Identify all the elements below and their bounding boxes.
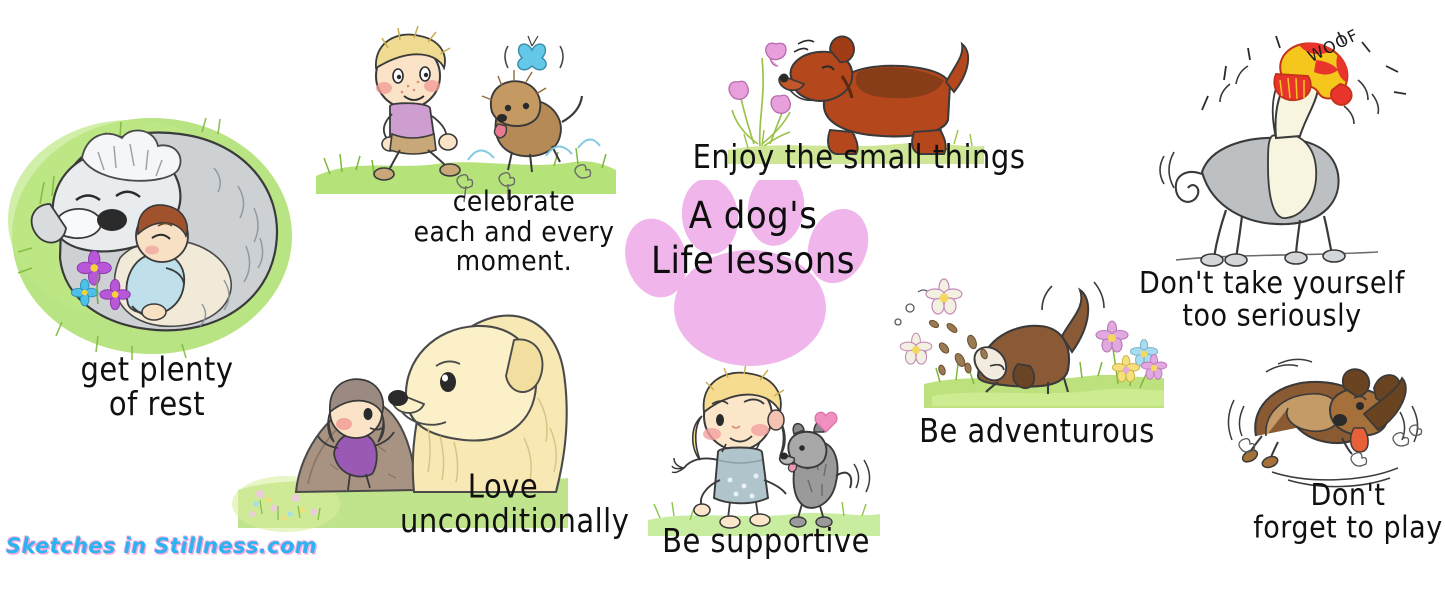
illustration-boy-running-with-puppy	[316, 24, 616, 204]
caption-enjoy-the-small-things: Enjoy the small things	[668, 140, 1050, 174]
illustration-greyhound-with-sock-on-head	[1148, 32, 1428, 280]
butterfly-icon	[505, 36, 563, 70]
caption-love-unconditionally: Love unconditionally	[400, 469, 606, 538]
watermark-sketches-in-stillness: Sketches in Stillness.com	[6, 534, 317, 558]
illustration-girl-with-terrier-puppy	[644, 364, 884, 544]
caption-be-supportive: Be supportive	[650, 524, 882, 558]
dogs-life-lessons-poster: get plenty of rest	[0, 0, 1445, 607]
illustration-dachshund-rolling-and-playing	[1232, 358, 1442, 488]
center-paw-badge: A dog's Life lessons	[608, 180, 898, 370]
poster-title: A dog's Life lessons	[608, 194, 898, 285]
caption-dont-forget-to-play: Don't forget to play	[1252, 481, 1444, 545]
caption-be-adventurous: Be adventurous	[898, 414, 1176, 448]
illustration-dog-digging-in-grass	[882, 252, 1172, 422]
caption-celebrate-each-moment: celebrate each and every moment.	[398, 187, 630, 276]
